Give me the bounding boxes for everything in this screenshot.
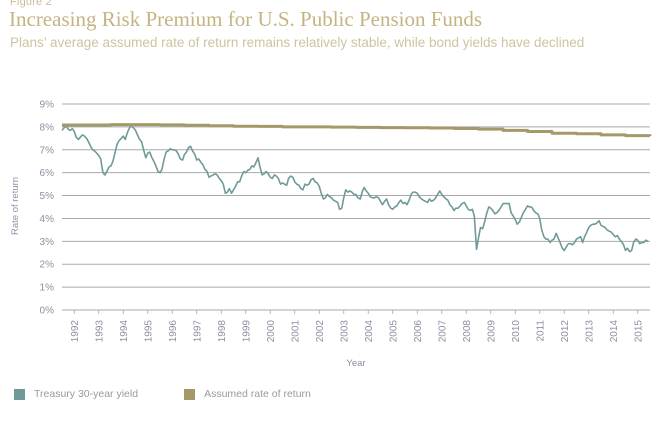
x-tick-label: 1998 [217, 320, 228, 343]
x-tick-label: 2000 [266, 320, 277, 343]
x-tick-label: 2009 [486, 320, 497, 343]
x-tick-label: 2005 [388, 320, 399, 343]
legend-swatch-treasury [14, 389, 25, 400]
series-line-treasury [62, 126, 648, 252]
x-tick-label: 2008 [462, 320, 473, 343]
x-tick-label: 2011 [535, 320, 546, 342]
y-tick-label: 9% [40, 100, 55, 111]
y-tick-label: 5% [40, 191, 55, 202]
x-tick-label: 2015 [633, 320, 644, 343]
x-axis-title: Year [346, 358, 365, 369]
y-tick-label: 0% [40, 306, 55, 317]
line-chart: 9%8%7%6%5%4%3%2%1%0% 1992199319941995199… [0, 86, 662, 376]
y-tick-label: 8% [40, 122, 55, 133]
y-tick-label: 7% [40, 145, 55, 156]
x-tick-label: 2013 [584, 320, 595, 343]
chart-legend: Treasury 30-year yield Assumed rate of r… [14, 388, 357, 400]
gridlines-group [62, 104, 650, 310]
figure-title: Increasing Risk Premium for U.S. Public … [9, 7, 482, 31]
y-tick-label: 2% [40, 260, 55, 271]
legend-label-treasury: Treasury 30-year yield [34, 388, 138, 400]
series-group [62, 125, 650, 252]
legend-item-treasury[interactable]: Treasury 30-year yield [14, 388, 138, 400]
y-axis-ticks: 9%8%7%6%5%4%3%2%1%0% [40, 100, 55, 317]
x-tick-label: 1999 [241, 320, 252, 343]
x-tick-label: 1995 [143, 320, 154, 343]
x-tick-label: 1992 [70, 320, 81, 343]
y-tick-label: 4% [40, 214, 55, 225]
figure-subtitle: Plans’ average assumed rate of return re… [10, 34, 650, 52]
legend-item-assumed[interactable]: Assumed rate of return [184, 388, 311, 400]
chart-plot-area: 9%8%7%6%5%4%3%2%1%0% 1992199319941995199… [0, 86, 662, 376]
legend-label-assumed: Assumed rate of return [204, 388, 311, 400]
x-tick-label: 2006 [413, 320, 424, 343]
x-tick-label: 2014 [609, 320, 620, 343]
x-tick-label: 1997 [192, 320, 203, 343]
y-axis-title: Rate of return [10, 177, 21, 235]
x-tick-label: 2002 [315, 320, 326, 343]
y-tick-label: 6% [40, 168, 55, 179]
x-tick-label: 2001 [290, 320, 301, 343]
y-tick-label: 3% [40, 237, 55, 248]
y-tick-label: 1% [40, 283, 55, 294]
x-tick-label: 1996 [168, 320, 179, 343]
figure-container: Figure 2 Increasing Risk Premium for U.S… [0, 0, 662, 422]
legend-swatch-assumed [184, 389, 195, 400]
x-tick-label: 2012 [560, 320, 571, 343]
x-axis-ticks: 1992199319941995199619971998199920002001… [70, 310, 645, 342]
x-tick-label: 2007 [437, 320, 448, 343]
x-tick-label: 2003 [339, 320, 350, 343]
x-tick-label: 1994 [119, 320, 130, 343]
x-tick-label: 2004 [364, 320, 375, 343]
x-tick-label: 2010 [511, 320, 522, 343]
series-line-assumed [62, 125, 650, 136]
x-tick-label: 1993 [94, 320, 105, 343]
